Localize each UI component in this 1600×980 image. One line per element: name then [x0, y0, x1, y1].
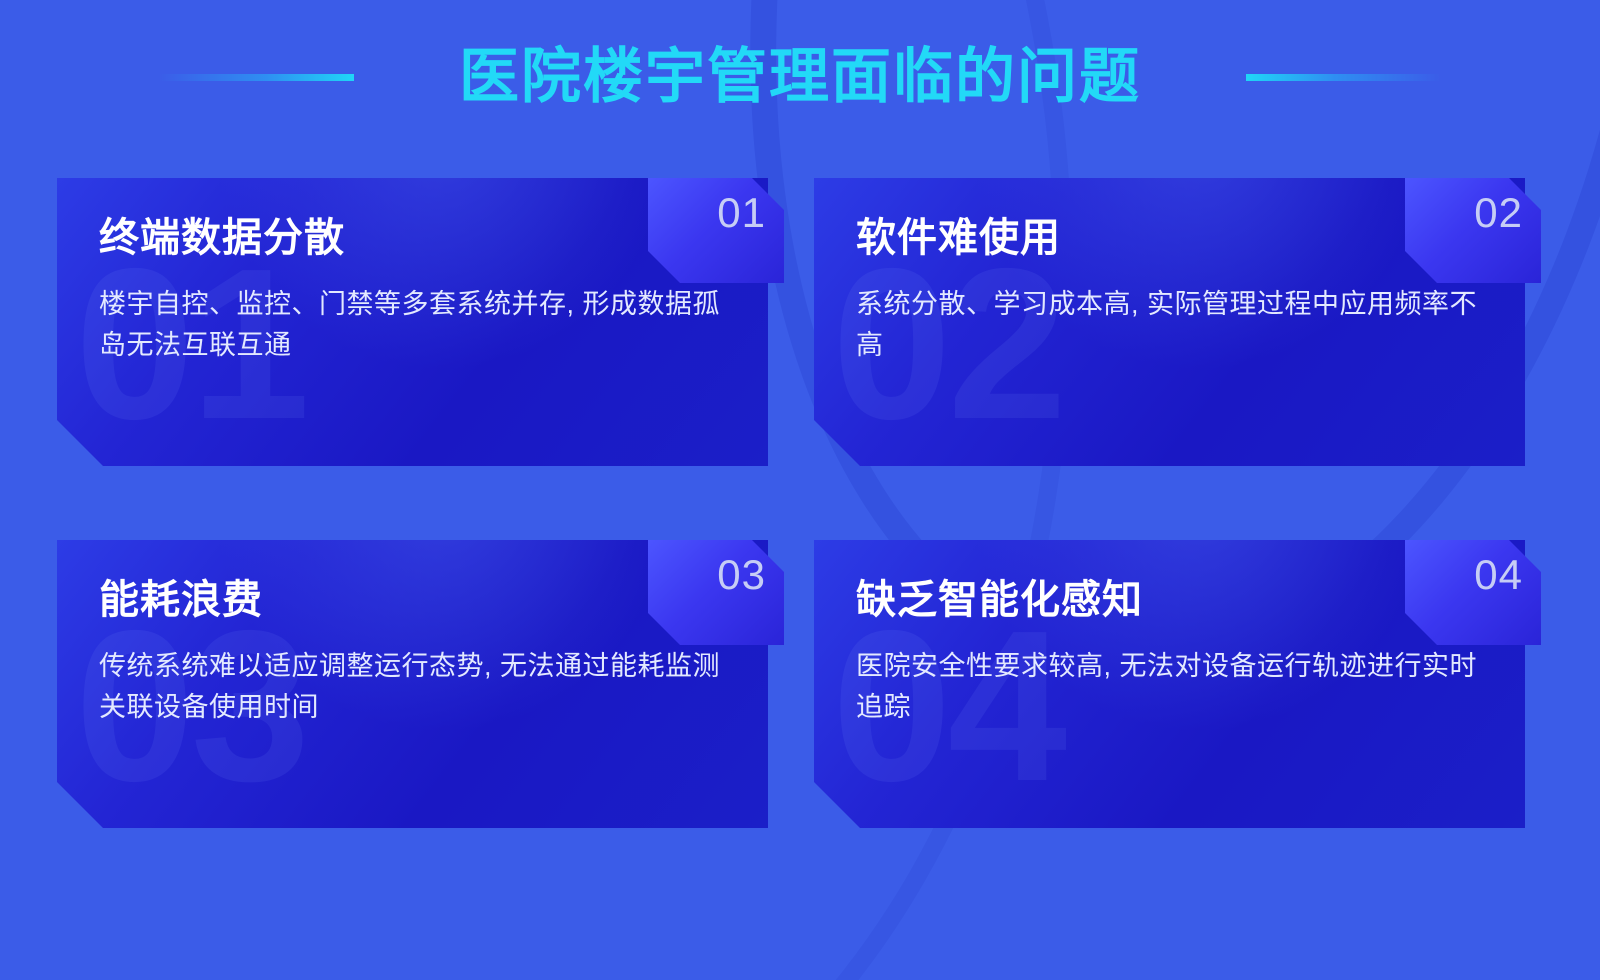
problem-card-01[interactable]: 01 终端数据分散 楼宇自控、监控、门禁等多套系统并存, 形成数据孤岛无法互联互…: [57, 178, 780, 488]
card-number-label: 02: [1474, 192, 1523, 234]
accent-line-bottom: [113, 846, 780, 850]
card-number-label: 03: [717, 554, 766, 596]
accent-line-bottom: [113, 484, 780, 488]
card-number-label: 01: [717, 192, 766, 234]
card-number-badge: 01: [648, 178, 784, 283]
card-number-badge: 02: [1405, 178, 1541, 283]
card-title: 软件难使用: [856, 218, 1481, 258]
title-rule-left-icon: [159, 74, 354, 81]
problem-card-grid: 01 终端数据分散 楼宇自控、监控、门禁等多套系统并存, 形成数据孤岛无法互联互…: [57, 178, 1537, 868]
page-header: 医院楼宇管理面临的问题: [0, 32, 1600, 122]
card-description: 系统分散、学习成本高, 实际管理过程中应用频率不高: [856, 284, 1481, 366]
problem-card-04[interactable]: 04 缺乏智能化感知 医院安全性要求较高, 无法对设备运行轨迹进行实时追踪 04: [814, 540, 1537, 850]
card-description: 医院安全性要求较高, 无法对设备运行轨迹进行实时追踪: [856, 646, 1481, 728]
card-title: 能耗浪费: [99, 580, 724, 620]
problem-card-03[interactable]: 03 能耗浪费 传统系统难以适应调整运行态势, 无法通过能耗监测关联设备使用时间…: [57, 540, 780, 850]
title-rule-right-icon: [1246, 74, 1441, 81]
card-description: 传统系统难以适应调整运行态势, 无法通过能耗监测关联设备使用时间: [99, 646, 724, 728]
card-title: 终端数据分散: [99, 218, 724, 258]
card-number-label: 04: [1474, 554, 1523, 596]
card-description: 楼宇自控、监控、门禁等多套系统并存, 形成数据孤岛无法互联互通: [99, 284, 724, 366]
card-number-badge: 04: [1405, 540, 1541, 645]
card-title: 缺乏智能化感知: [856, 580, 1481, 620]
problem-card-02[interactable]: 02 软件难使用 系统分散、学习成本高, 实际管理过程中应用频率不高 02: [814, 178, 1537, 488]
accent-line-bottom: [870, 484, 1537, 488]
page-title: 医院楼宇管理面临的问题: [459, 47, 1141, 107]
accent-line-bottom: [870, 846, 1537, 850]
card-number-badge: 03: [648, 540, 784, 645]
